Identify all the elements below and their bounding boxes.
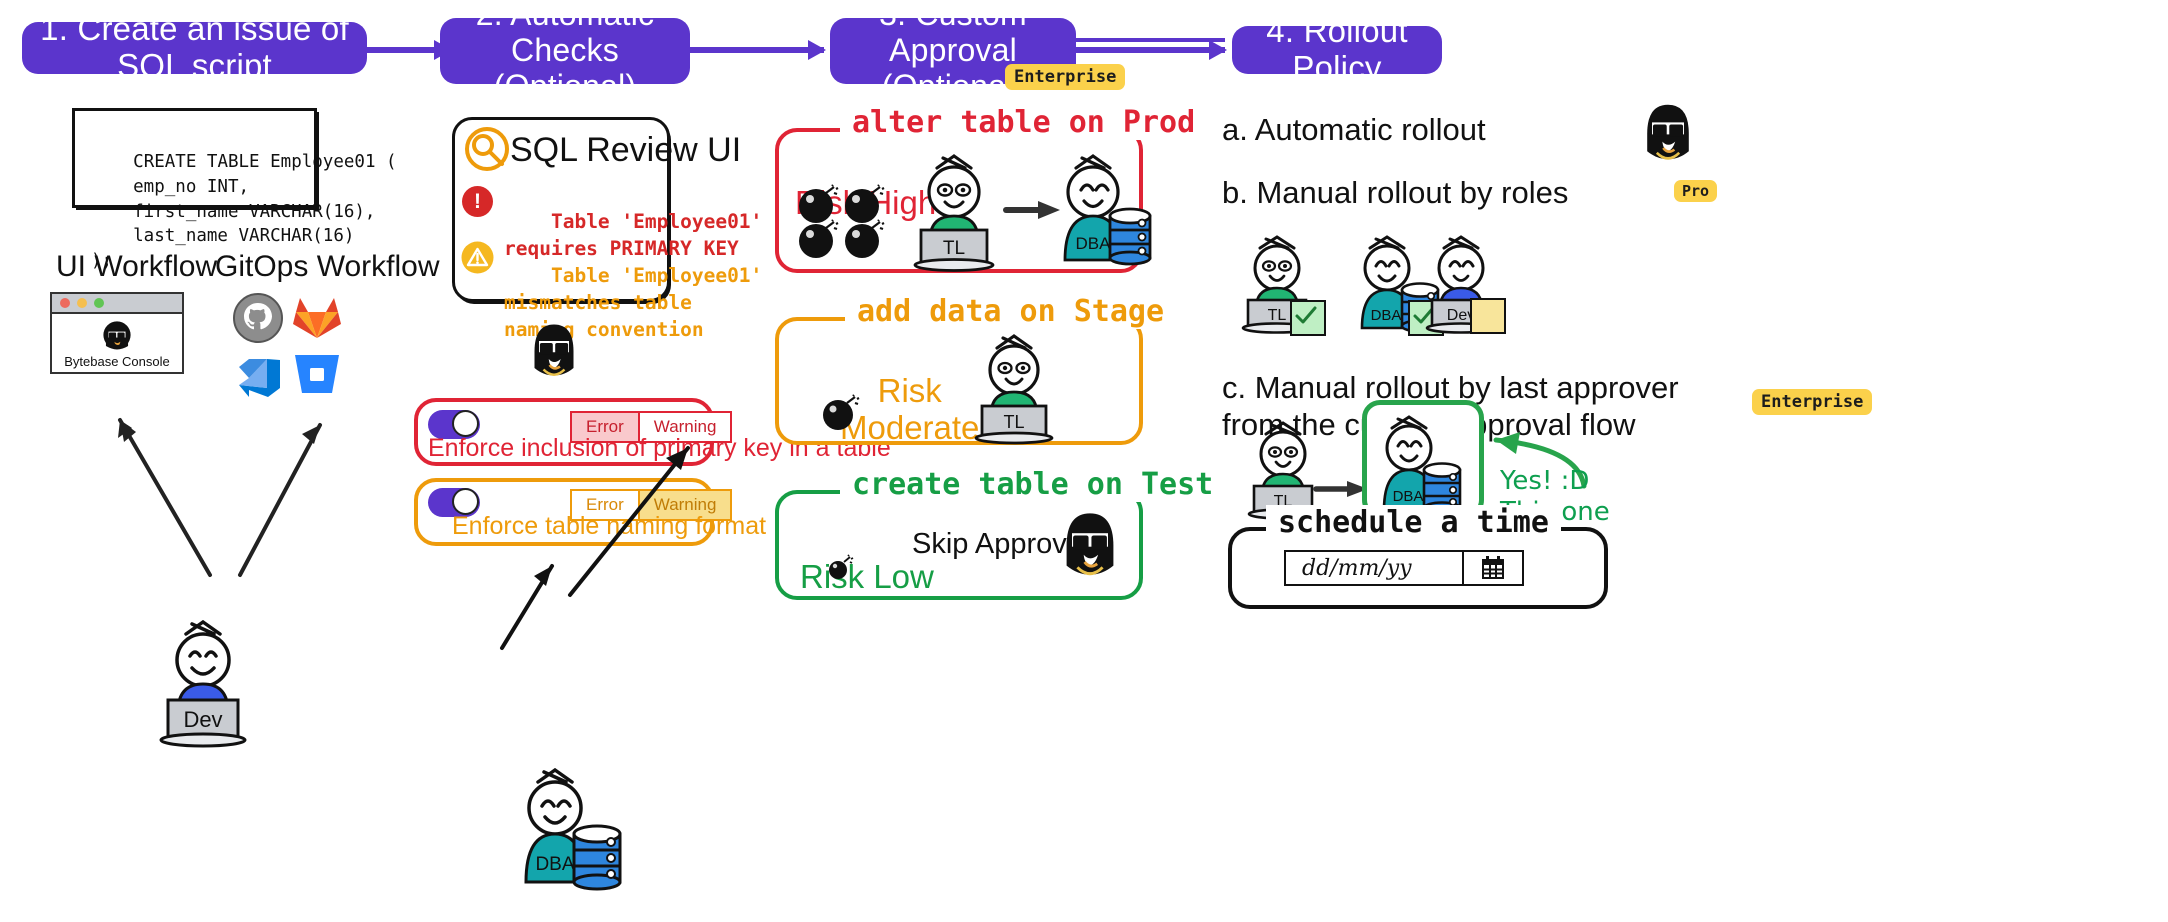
schedule-date-input[interactable]: dd/mm/yy — [1284, 550, 1524, 586]
maximize-dot-icon — [94, 298, 104, 308]
arrow-dev-to-ui-workflow — [100, 380, 220, 580]
person-dba-flow: DBA — [1370, 412, 1478, 514]
window-body: Bytebase Console — [52, 314, 182, 372]
window-titlebar — [52, 294, 182, 314]
schedule-date-value[interactable]: dd/mm/yy — [1286, 556, 1462, 581]
person-dba-col2: DBA — [510, 760, 630, 890]
ui-workflow-label: UI Workflow — [56, 250, 217, 284]
person-tl-roles-role-label: TL — [1268, 307, 1287, 324]
approval-group-stage-title: add data on Stage — [845, 294, 1176, 329]
sql-script-card: CREATE TABLE Employee01 ( emp_no INT, fi… — [72, 108, 317, 208]
person-dev: Dev — [148, 612, 258, 752]
person-tl-stage-role-label: TL — [1003, 412, 1024, 432]
exclamation-circle-icon: ! — [462, 186, 493, 217]
approval-pending-dev — [1470, 298, 1506, 334]
bytebase-avatar-icon-3 — [1054, 506, 1126, 582]
person-dba-prod: DBA — [1050, 148, 1150, 264]
warning-triangle-icon — [460, 240, 495, 275]
person-dba-col2-role-label: DBA — [535, 854, 574, 875]
magnifier-icon — [464, 126, 510, 172]
gitops-workflow-label: GitOps Workflow — [215, 250, 440, 284]
rollout-option-a: a. Automatic rollout — [1222, 112, 1486, 148]
person-tl-prod-role-label: TL — [943, 238, 965, 259]
badge-label: Enterprise — [1014, 67, 1116, 87]
connector-step3-step4 — [1075, 47, 1225, 53]
bytebase-console-window[interactable]: Bytebase Console — [50, 292, 184, 374]
step-header-3-badge: Enterprise — [1005, 64, 1125, 90]
approval-group-prod-title: alter table on Prod — [840, 105, 1207, 140]
person-tl-stage: TL — [963, 330, 1067, 442]
gitlab-icon — [292, 292, 342, 342]
browser-app-title: Bytebase Console — [64, 354, 170, 369]
connector-step1-step2 — [366, 47, 450, 53]
rollout-option-c-badge: Enterprise — [1752, 389, 1872, 415]
bomb-icons-high — [798, 184, 890, 260]
bytebase-avatar-icon — [100, 318, 134, 352]
arrow-dba-to-rule-naming-format — [482, 548, 572, 658]
diagram-canvas: 1. Create an issue of SQL script 2. Auto… — [0, 0, 2168, 922]
step-header-1-label: 1. Create an issue of SQL script — [40, 11, 349, 85]
step-header-1[interactable]: 1. Create an issue of SQL script — [22, 22, 367, 74]
database-cylinder-icon — [1110, 209, 1150, 264]
person-tl-prod: TL — [903, 148, 1007, 270]
bytebase-avatar-icon-4 — [1636, 98, 1700, 166]
connector-step2-step3 — [690, 47, 824, 53]
bomb-icon-moderate — [822, 392, 864, 432]
bytebase-avatar-icon-2 — [524, 318, 584, 382]
rollout-option-b: b. Manual rollout by roles — [1222, 175, 1568, 211]
github-icon — [232, 292, 284, 344]
step-header-4-label: 4. Rollout Policy — [1250, 13, 1424, 87]
person-dba-flow-role-label: DBA — [1393, 488, 1424, 505]
bomb-icon-low — [828, 554, 856, 580]
person-dba-roles-role-label: DBA — [1371, 307, 1402, 324]
close-dot-icon — [60, 298, 70, 308]
person-tl-flow: TL — [1234, 418, 1338, 516]
sql-review-card-title: SQL Review UI — [510, 131, 741, 170]
minimize-dot-icon — [77, 298, 87, 308]
step-header-2-label: 2. Automatic Checks (Optional) — [458, 0, 672, 105]
database-cylinder-icon — [574, 826, 620, 889]
arrow-dev-to-gitops-workflow — [230, 380, 350, 580]
rollout-option-b-badge: Pro — [1674, 180, 1717, 202]
step-header-2[interactable]: 2. Automatic Checks (Optional) — [440, 18, 690, 84]
schedule-box-title: schedule a time — [1266, 505, 1561, 540]
approval-group-test-title: create table on Test — [840, 467, 1225, 502]
person-dba-prod-role-label: DBA — [1076, 234, 1112, 253]
step-header-4[interactable]: 4. Rollout Policy — [1232, 26, 1442, 74]
check-icon-tl — [1294, 305, 1318, 327]
person-dev-role-label: Dev — [183, 707, 222, 732]
calendar-icon[interactable] — [1462, 552, 1522, 584]
